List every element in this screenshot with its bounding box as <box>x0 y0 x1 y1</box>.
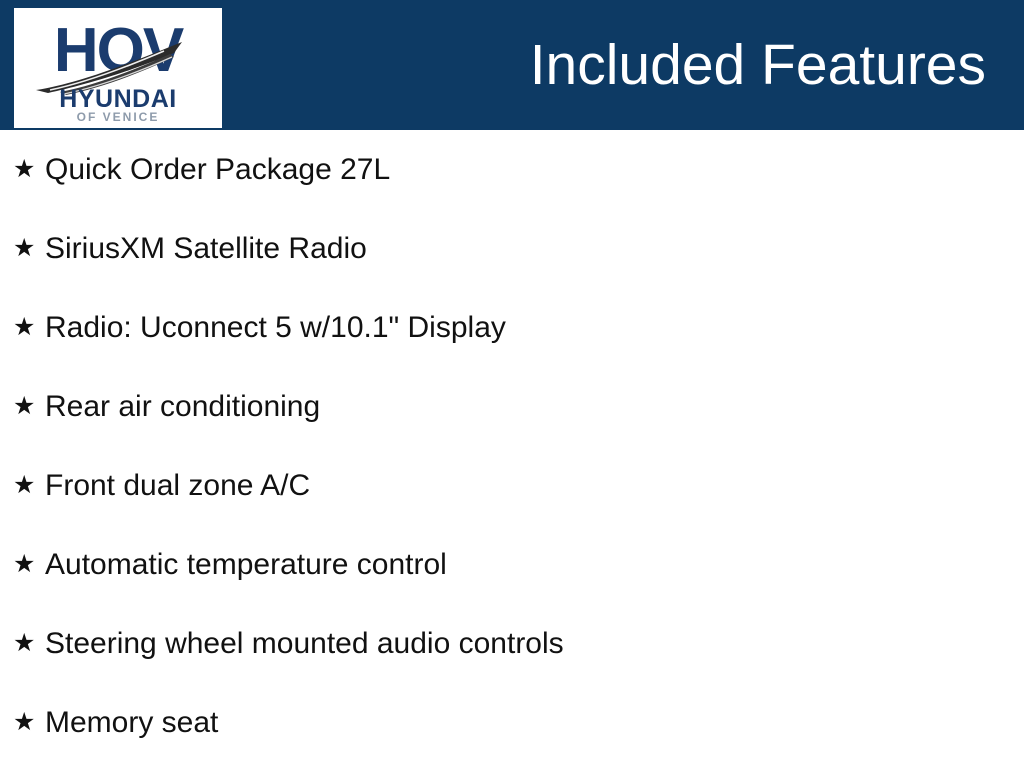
feature-label: SiriusXM Satellite Radio <box>45 231 367 267</box>
list-item: ★ Rear air conditioning <box>0 367 1024 446</box>
star-bullet-icon: ★ <box>13 315 45 340</box>
included-features-list: ★ Quick Order Package 27L ★ SiriusXM Sat… <box>0 130 1024 762</box>
list-item: ★ Radio: Uconnect 5 w/10.1" Display <box>0 288 1024 367</box>
star-bullet-icon: ★ <box>13 236 45 261</box>
dealer-logo: HOV HYUNDAI OF VENICE <box>14 8 222 128</box>
list-item: ★ Quick Order Package 27L <box>0 130 1024 209</box>
svg-text:OF VENICE: OF VENICE <box>77 110 160 124</box>
hov-hyundai-of-venice-logo-icon: HOV HYUNDAI OF VENICE <box>14 8 222 128</box>
list-item: ★ Front dual zone A/C <box>0 446 1024 525</box>
list-item: ★ Steering wheel mounted audio controls <box>0 604 1024 683</box>
list-item: ★ SiriusXM Satellite Radio <box>0 209 1024 288</box>
list-item: ★ Memory seat <box>0 683 1024 762</box>
page-title: Included Features <box>530 28 986 102</box>
star-bullet-icon: ★ <box>13 552 45 577</box>
feature-label: Front dual zone A/C <box>45 468 310 504</box>
feature-label: Rear air conditioning <box>45 389 320 425</box>
list-item: ★ Automatic temperature control <box>0 525 1024 604</box>
svg-text:HYUNDAI: HYUNDAI <box>59 85 176 113</box>
star-bullet-icon: ★ <box>13 710 45 735</box>
star-bullet-icon: ★ <box>13 473 45 498</box>
star-bullet-icon: ★ <box>13 631 45 656</box>
feature-label: Radio: Uconnect 5 w/10.1" Display <box>45 310 506 346</box>
star-bullet-icon: ★ <box>13 157 45 182</box>
star-bullet-icon: ★ <box>13 394 45 419</box>
feature-label: Memory seat <box>45 705 218 741</box>
feature-label: Steering wheel mounted audio controls <box>45 626 564 662</box>
feature-label: Automatic temperature control <box>45 547 447 583</box>
slide-root: Included Features HOV HYUNDAI OF VENICE … <box>0 0 1024 768</box>
feature-label: Quick Order Package 27L <box>45 152 390 188</box>
